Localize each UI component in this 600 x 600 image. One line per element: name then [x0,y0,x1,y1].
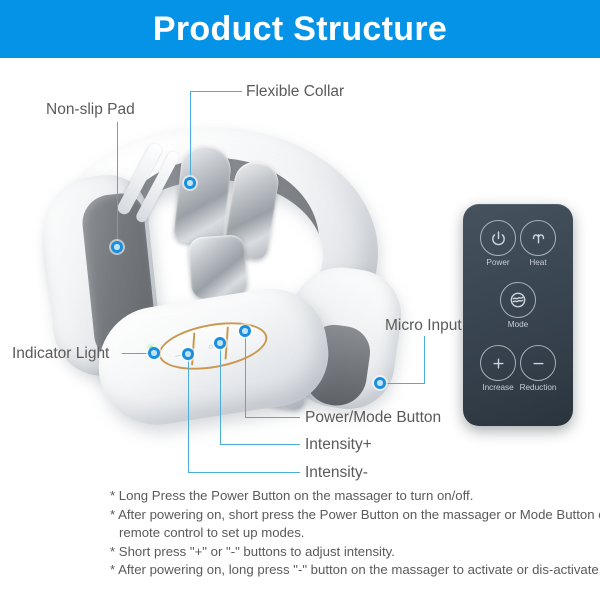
callout-label-indicator-light: Indicator Light [12,346,109,362]
mode-icon [500,282,536,318]
heat-icon [520,220,556,256]
callout-dot-power-mode-button [239,325,251,337]
callout-dot-indicator-light [148,347,160,359]
callout-label-non-slip-pad: Non-slip Pad [46,102,135,118]
callout-dot-non-slip-pad [111,241,123,253]
note-line: * Short press "+" or "-" buttons to adju… [110,543,590,562]
callout-label-flexible-collar: Flexible Collar [246,84,344,100]
remote-heat-label: Heat [511,259,565,267]
note-line: * After powering on, long press "-" butt… [110,561,590,580]
callout-dot-intensity-minus [182,348,194,360]
leader-line-power-mode-h [245,417,300,418]
leader-line-non-slip-pad [117,122,118,246]
page-title: Product Structure [153,12,447,46]
remote-mode-label: Mode [491,321,545,329]
remote-control: Power Heat Mode [463,204,573,426]
remote-reduction-button[interactable]: Reduction [520,345,556,381]
callout-label-power-mode-button: Power/Mode Button [305,410,441,426]
leader-line-intensity-minus-v [188,354,189,473]
remote-power-button[interactable]: Power [480,220,516,256]
remote-mode-button[interactable]: Mode [500,282,536,318]
note-line: * After powering on, short press the Pow… [110,506,590,525]
leader-line-intensity-plus-v [220,343,221,445]
callout-label-intensity-minus: Intensity- [305,465,368,481]
power-icon [480,220,516,256]
remote-increase-button[interactable]: Increase [480,345,516,381]
callout-label-intensity-plus: Intensity+ [305,437,372,453]
product-structure-diagram: Product Structure — ○ ◔ [0,0,600,600]
leader-line-intensity-plus-h [220,444,300,445]
callout-label-micro-input: Micro Input [385,318,462,334]
electrode-plate [173,144,233,247]
leader-line-flexible-collar-v [190,91,191,182]
leader-line-micro-input-h [380,383,425,384]
remote-heat-button[interactable]: Heat [520,220,556,256]
remote-reduction-label: Reduction [511,384,565,392]
callout-dot-micro-input [374,377,386,389]
note-line: * Long Press the Power Button on the mas… [110,487,590,506]
leader-line-power-mode-v [245,331,246,418]
leader-line-micro-input-v [424,336,425,384]
plus-icon [480,345,516,381]
leader-line-flexible-collar-h [190,91,242,92]
callout-dot-intensity-plus [214,337,226,349]
header-banner: Product Structure [0,0,600,58]
leader-line-intensity-minus-h [188,472,300,473]
electrode-plate [188,234,248,300]
minus-icon [520,345,556,381]
note-line: remote control to set up modes. [110,524,590,543]
callout-dot-flexible-collar [184,177,196,189]
usage-notes: * Long Press the Power Button on the mas… [110,487,590,580]
neck-massager-illustration: — ○ ◔ [30,118,430,418]
